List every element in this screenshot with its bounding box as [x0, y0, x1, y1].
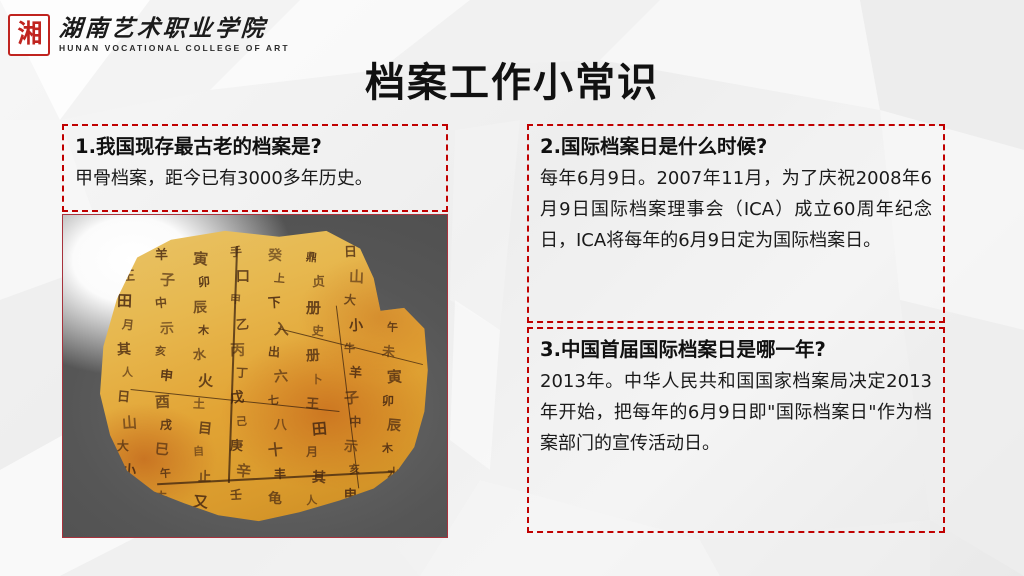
oracle-glyph: 木: [381, 443, 393, 455]
institution-name-cn: 湖南艺术职业学院: [58, 17, 290, 40]
oracle-glyph: 酉: [381, 249, 397, 265]
oracle-glyph: 庚: [230, 440, 243, 453]
oracle-glyph: 月: [306, 446, 318, 458]
oracle-glyph: 水: [387, 468, 400, 481]
oracle-glyph: 卯: [197, 276, 210, 289]
photo-backdrop: 卜王田月其人日山大小牛羊子中示亥申酉戌巳午未寅卯辰木水火土目自止又手口甲乙丙丁戊…: [63, 215, 447, 537]
question-box-1: 1.我国现存最古老的档案是? 甲骨档案，距今已有3000多年历史。: [62, 124, 448, 212]
oracle-glyph: 六: [273, 370, 288, 385]
answer-text-1: 甲骨档案，距今已有3000多年历史。: [75, 164, 435, 193]
oracle-glyph: 壬: [230, 488, 243, 501]
oracle-glyph: 十: [268, 442, 285, 458]
oracle-glyph: 申: [160, 370, 174, 384]
oracle-glyph: 鼎: [306, 252, 318, 264]
oracle-glyph: 巳: [382, 297, 396, 311]
oracle-glyph: 巳: [154, 443, 169, 458]
oracle-glyph: 人: [306, 495, 318, 507]
oracle-glyph: 申: [344, 488, 357, 501]
oracle-glyph: 未: [155, 492, 168, 505]
oracle-glyph: 己: [236, 415, 247, 426]
oracle-glyph: 午: [160, 467, 172, 479]
question-text-1: 1.我国现存最古老的档案是?: [75, 134, 435, 161]
oracle-glyph: 寅: [192, 252, 208, 268]
oracle-glyph: 册: [306, 301, 321, 316]
question-box-3: 3.中国首届国际档案日是哪一年? 2013年。中华人民共和国国家档案局决定201…: [527, 327, 945, 533]
oracle-glyph: 戌: [387, 273, 400, 286]
oracle-glyph: 大: [117, 440, 129, 452]
oracle-glyph: 龟: [268, 492, 282, 506]
oracle-glyph: 午: [387, 322, 398, 333]
oracle-glyph: 牛: [116, 488, 128, 500]
oracle-glyph: 自: [192, 446, 204, 458]
oracle-glyph: 山: [349, 270, 365, 286]
question-box-2: 2.国际档案日是什么时候? 每年6月9日。2007年11月，为了庆祝2008年6…: [527, 124, 945, 323]
oracle-glyph: 卜: [116, 245, 128, 257]
oracle-glyph: 月: [122, 318, 135, 331]
oracle-glyph: 目: [197, 422, 212, 437]
oracle-glyph: 大: [343, 294, 356, 307]
institution-name-block: 湖南艺术职业学院 HUNAN VOCATIONAL COLLEGE OF ART: [59, 17, 290, 53]
oracle-glyph: 土: [192, 398, 204, 410]
oracle-glyph: 日: [344, 245, 357, 258]
oracle-glyph: 中: [154, 297, 167, 310]
oracle-glyph: 王: [122, 270, 135, 283]
oracle-glyph: 辰: [387, 418, 402, 433]
seal-glyph: 湘: [12, 18, 46, 52]
oracle-glyph: 小: [122, 464, 137, 479]
slide: 湘 湖南艺术职业学院 HUNAN VOCATIONAL COLLEGE OF A…: [0, 0, 1024, 576]
oracle-glyph: 册: [306, 349, 321, 364]
oracle-glyph: 口: [236, 270, 250, 284]
oracle-glyph: 人: [122, 367, 133, 378]
oracle-glyph: 羊: [349, 367, 363, 381]
oracle-glyph: 水: [192, 349, 206, 363]
oracle-glyph: 寅: [387, 370, 403, 386]
oracle-glyph: 田: [311, 422, 327, 438]
oracle-glyph: 乙: [235, 318, 249, 332]
oracle-bone-fragment: 卜王田月其人日山大小牛羊子中示亥申酉戌巳午未寅卯辰木水火土目自止又手口甲乙丙丁戊…: [90, 228, 428, 524]
oracle-glyph: 火: [381, 491, 397, 507]
oracle-glyph: 亥: [155, 346, 166, 357]
oracle-bone-photo: 卜王田月其人日山大小牛羊子中示亥申酉戌巳午未寅卯辰木水火土目自止又手口甲乙丙丁戊…: [62, 214, 448, 538]
oracle-glyph: 卯: [382, 395, 394, 407]
oracle-glyph: 木: [198, 325, 210, 337]
oracle-glyph: 其: [311, 470, 326, 485]
oracle-glyph: 羊: [155, 249, 168, 262]
oracle-glyph: 又: [192, 494, 208, 510]
oracle-glyph: 贞: [311, 276, 325, 290]
oracle-glyph: 卜: [312, 374, 323, 385]
oracle-glyph: 辰: [192, 301, 206, 315]
answer-text-3: 2013年。中华人民共和国国家档案局决定2013年开始，把每年的6月9日即"国际…: [540, 367, 932, 460]
oracle-glyph: 丁: [236, 367, 249, 380]
question-text-3: 3.中国首届国际档案日是哪一年?: [540, 337, 932, 364]
oracle-bone-inscriptions: 卜王田月其人日山大小牛羊子中示亥申酉戌巳午未寅卯辰木水火土目自止又手口甲乙丙丁戊…: [90, 228, 428, 524]
oracle-glyph: 上: [273, 273, 285, 285]
oracle-glyph: 小: [349, 318, 364, 333]
oracle-glyph: 示: [343, 439, 358, 454]
oracle-glyph: 史: [311, 325, 324, 338]
oracle-glyph: 火: [198, 373, 214, 389]
oracle-glyph: 示: [160, 322, 174, 336]
oracle-glyph: 酉: [154, 394, 170, 410]
oracle-glyph: 子: [160, 273, 176, 289]
oracle-glyph: 其: [117, 342, 132, 357]
oracle-glyph: 下: [268, 297, 282, 311]
oracle-glyph: 日: [116, 391, 130, 405]
oracle-glyph: 出: [268, 346, 281, 359]
oracle-glyph: 山: [122, 415, 138, 431]
answer-text-2: 每年6月9日。2007年11月，为了庆祝2008年6月9日国际档案理事会（ICA…: [540, 164, 932, 257]
oracle-glyph: 八: [273, 419, 287, 433]
question-text-2: 2.国际档案日是什么时候?: [540, 134, 932, 161]
oracle-glyph: 戌: [160, 419, 172, 431]
oracle-glyph: 田: [117, 294, 133, 310]
page-title: 档案工作小常识: [0, 50, 1024, 108]
oracle-glyph: 癸: [268, 249, 282, 263]
